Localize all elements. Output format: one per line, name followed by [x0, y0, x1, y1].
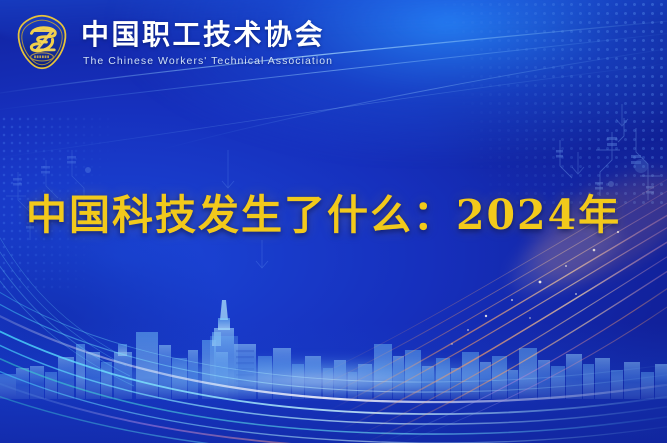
page-title: 中国科技发生了什么：2024年 [26, 181, 621, 241]
organization-name-cn: 中国职工技术协会 [81, 19, 333, 50]
organization-name-en: The Chinese Workers' Technical Associati… [83, 55, 333, 67]
brand-text-block: 中国职工技术协会 The Chinese Workers' Technical … [81, 19, 333, 67]
header: 中国职工技术协会 The Chinese Workers' Technical … [0, 0, 667, 86]
china-workers-technical-association-shield-logo [14, 13, 70, 71]
poster-banner: 中国职工技术协会 The Chinese Workers' Technical … [0, 0, 667, 443]
